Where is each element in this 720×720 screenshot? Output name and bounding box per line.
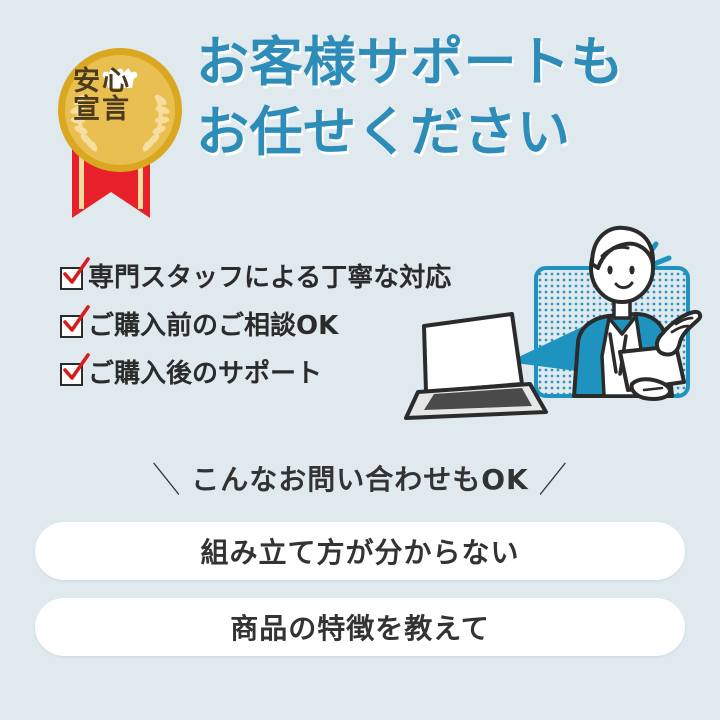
headline-line-1: お客様サポートも <box>196 28 716 98</box>
headline-line-2: お任せください <box>196 98 716 168</box>
award-medal-icon <box>58 48 182 172</box>
check-icon <box>61 257 91 287</box>
inquiry-card-label: 商品の特徴を教えて <box>230 607 490 647</box>
check-icon <box>61 305 91 335</box>
laptop-icon <box>406 314 546 418</box>
holding-hand <box>632 379 670 399</box>
assurance-badge: 安心 宣言 <box>40 26 185 226</box>
checkbox-checked <box>60 315 83 338</box>
left-slash-mark: ＼ <box>142 453 191 503</box>
checklist-item-label: ご購入後のサポート <box>88 361 322 387</box>
checkbox-checked <box>60 363 83 386</box>
check-icon <box>61 353 91 383</box>
checklist-item-label: ご購入前のご相談OK <box>88 313 338 339</box>
inquiry-card-label: 組み立て方が分からない <box>200 531 519 571</box>
inquiry-subheading-text: こんなお問い合わせもOK <box>191 463 529 496</box>
inquiry-card[interactable]: 商品の特徴を教えて <box>35 598 685 656</box>
support-staff-with-laptop-illustration <box>388 206 708 438</box>
headline: お客様サポートも お任せください <box>196 28 716 168</box>
banner-canvas: 安心 宣言 お客様サポートも お任せください 専門スタッフによる丁寧な対応 ご購… <box>0 0 720 720</box>
checkbox-checked <box>60 267 83 290</box>
inquiry-subheading: ＼こんなお問い合わせもOK／ <box>0 458 720 498</box>
inquiry-card[interactable]: 組み立て方が分からない <box>35 522 685 580</box>
right-slash-mark: ／ <box>529 453 578 503</box>
